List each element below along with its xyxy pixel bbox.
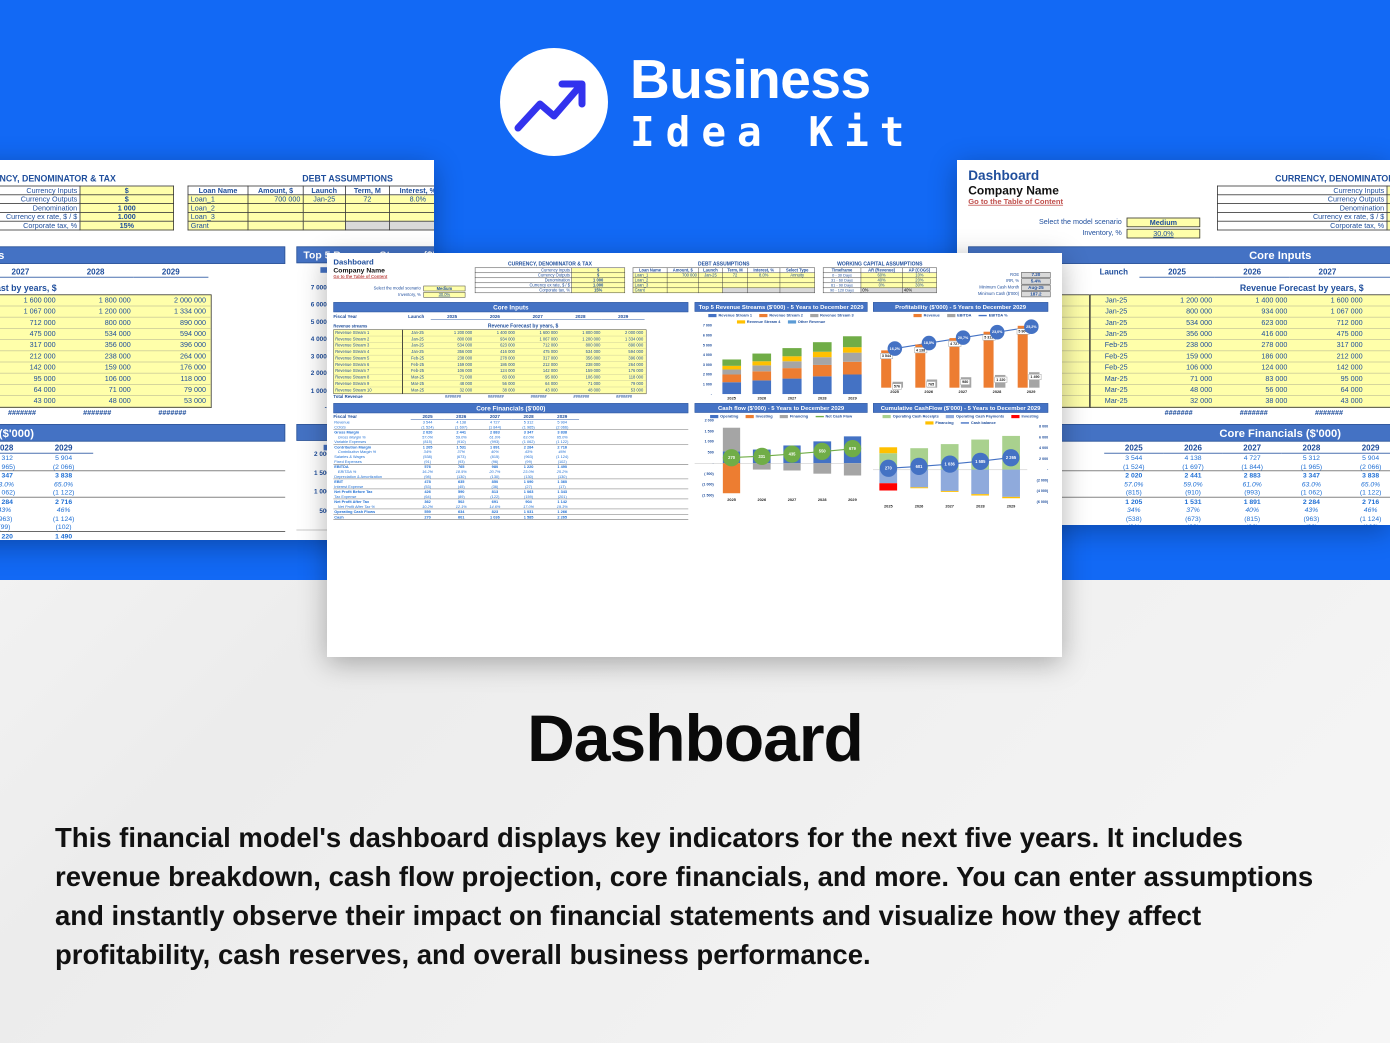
debt-cell[interactable] <box>248 204 303 213</box>
revenue-forecast-grid: Jan-251 200 0001 400 0001 600 0001 800 0… <box>1090 294 1390 408</box>
inventory-input[interactable]: 30.0% <box>1127 229 1201 239</box>
debt-cell[interactable]: Jan-25 <box>303 195 345 204</box>
scenario-select[interactable]: Medium <box>1127 218 1201 228</box>
forecast-cell[interactable]: 1 800 000 <box>60 295 135 305</box>
forecast-cell[interactable]: 356 000 <box>1367 340 1390 350</box>
forecast-cell[interactable]: 1 600 000 <box>0 295 60 305</box>
debt-cell[interactable]: 72 <box>345 195 389 204</box>
forecast-cell[interactable]: 800 000 <box>60 318 135 328</box>
debt-cell[interactable] <box>345 204 389 213</box>
currency-row-label: Currency ex rate, $ / $ <box>1217 212 1387 221</box>
financial-row-value: 65.0% <box>34 480 93 488</box>
currency-row-value[interactable]: 15% <box>572 288 625 293</box>
currency-row-value[interactable]: $ <box>80 186 174 195</box>
wc-cell[interactable]: 0% <box>861 288 902 293</box>
financial-row-label: Depreciation & Amortization <box>333 474 410 479</box>
launch-cell[interactable]: Mar-25 <box>1091 374 1142 384</box>
launch-cell[interactable]: Jan-25 <box>403 349 432 355</box>
forecast-cell[interactable]: 159 000 <box>560 368 603 374</box>
bar-segment <box>843 347 862 353</box>
forecast-cell[interactable]: 2 000 000 <box>603 330 646 336</box>
y-axis-tick: 3 000 <box>296 353 326 360</box>
forecast-cell[interactable]: 186 000 <box>475 362 518 368</box>
forecast-cell[interactable]: 475 000 <box>0 329 60 339</box>
scenario-select[interactable]: Medium <box>423 286 465 291</box>
currency-block-header: CURRENCY, DENOMINATOR & TAX <box>475 261 625 266</box>
chart-plot-profitability: 3 54457616,2%4 13876518,5%4 72798020,7%5… <box>873 319 1048 387</box>
forecast-cell[interactable]: 623 000 <box>475 343 518 349</box>
financial-row-value: (130) <box>512 474 546 479</box>
financial-row-value: (201) <box>545 494 579 499</box>
core-financials-year: 2028 <box>0 444 34 454</box>
forecast-cell[interactable]: 38 000 <box>475 387 518 393</box>
table-row: Salaries & Wages(538)(673)(815)(963)(1 1… <box>0 514 285 522</box>
launch-label: Launch <box>1088 268 1139 278</box>
forecast-cell[interactable]: 159 000 <box>60 362 135 372</box>
financial-row-value: 1 585 <box>512 514 546 519</box>
forecast-cell[interactable]: 43 000 <box>0 396 60 406</box>
debt-cell[interactable]: 700 000 <box>248 195 303 204</box>
debt-cell[interactable] <box>748 288 780 293</box>
forecast-cell[interactable]: 800 000 <box>1142 306 1217 316</box>
forecast-cell[interactable]: 1 334 000 <box>603 336 646 342</box>
forecast-cell[interactable]: 186 000 <box>1217 351 1292 361</box>
table-of-content-link[interactable]: Go to the Table of Content <box>968 198 1200 207</box>
debt-cell[interactable] <box>345 221 389 230</box>
kpi-label: IRR, % <box>1006 278 1019 284</box>
forecast-cell[interactable]: 56 000 <box>1217 385 1292 395</box>
forecast-cell[interactable]: 1 200 000 <box>1142 295 1217 305</box>
forecast-cell[interactable]: 159 000 <box>432 362 475 368</box>
debt-cell[interactable]: Grant <box>188 221 248 230</box>
debt-cell[interactable] <box>303 221 345 230</box>
x-axis-label: 2025 <box>873 504 904 509</box>
forecast-cell[interactable]: 71 000 <box>1367 385 1390 395</box>
ebitda-pct-bubble: 20,7% <box>956 330 971 345</box>
bar-segment <box>783 348 802 357</box>
debt-cell[interactable] <box>389 212 434 221</box>
financial-row-value: (64) <box>411 494 445 499</box>
table-row: Currency Outputs$ <box>1217 195 1390 204</box>
legend-swatch <box>759 314 767 317</box>
forecast-cell[interactable]: 238 000 <box>1142 340 1217 350</box>
forecast-cell[interactable]: 43 000 <box>518 387 561 393</box>
launch-cell[interactable]: Mar-25 <box>403 381 432 387</box>
forecast-cell[interactable]: 79 000 <box>603 381 646 387</box>
debt-column-header: Launch <box>303 186 345 195</box>
forecast-cell[interactable]: 32 000 <box>432 387 475 393</box>
debt-cell[interactable] <box>303 204 345 213</box>
forecast-cell[interactable]: 64 000 <box>518 381 561 387</box>
forecast-cell[interactable]: 124 000 <box>475 368 518 374</box>
forecast-cell[interactable]: 2 000 000 <box>136 295 211 305</box>
forecast-cell[interactable]: 396 000 <box>136 340 211 350</box>
core-financials-year: 2027 <box>1223 444 1282 454</box>
forecast-cell[interactable]: 48 000 <box>60 396 135 406</box>
debt-table: Loan NameAmount, $LaunchTerm, MInterest,… <box>188 186 434 231</box>
growth-arrow-icon <box>500 48 608 156</box>
bar-segment <box>813 365 832 377</box>
forecast-cell[interactable]: 264 000 <box>136 351 211 361</box>
forecast-cell[interactable]: 71 000 <box>1142 374 1217 384</box>
forecast-cell[interactable]: 1 067 000 <box>1292 306 1367 316</box>
forecast-cell[interactable]: 623 000 <box>1217 318 1292 328</box>
forecast-cell[interactable]: 118 000 <box>136 374 211 384</box>
forecast-cell[interactable]: 534 000 <box>432 343 475 349</box>
forecast-cell[interactable]: 890 000 <box>603 343 646 349</box>
legend-swatch <box>946 415 954 418</box>
debt-cell[interactable] <box>698 288 722 293</box>
wc-cell[interactable]: 40% <box>902 288 936 293</box>
forecast-cell[interactable]: 64 000 <box>1292 385 1367 395</box>
y-axis-tick: 4 000 <box>1029 446 1048 450</box>
forecast-cell[interactable]: 1 067 000 <box>518 336 561 342</box>
ebitda-data-label: 980 <box>960 379 970 385</box>
forecast-cell[interactable]: 212 000 <box>518 362 561 368</box>
forecast-cell[interactable]: 1 067 000 <box>0 306 60 316</box>
financial-row-value: 270 <box>411 514 445 519</box>
cash-bubble: 331 <box>753 448 770 465</box>
bar-segment <box>843 336 862 347</box>
launch-cell[interactable]: Feb-25 <box>403 362 432 368</box>
forecast-cell[interactable]: 48 000 <box>560 387 603 393</box>
forecast-cell[interactable]: 212 000 <box>0 351 60 361</box>
total-revenue-value: ####### <box>135 409 210 418</box>
y-axis-tick: 1 000 <box>296 387 326 394</box>
table-row: Corporate tax, %15% <box>1217 221 1390 230</box>
ebitda-data-label: 1 490 <box>1029 374 1042 380</box>
wc-block-header: WORKING CAPITAL ASSUMPTIONS <box>823 261 937 266</box>
bar-segment <box>722 359 741 365</box>
financial-row-value: 40% <box>1223 506 1282 514</box>
legend-swatch <box>914 314 922 317</box>
total-revenue-value: ####### <box>0 409 60 418</box>
forecast-cell[interactable]: 124 000 <box>1217 362 1292 372</box>
total-revenue-value: ####### <box>1141 409 1216 418</box>
forecast-cell[interactable]: 38 000 <box>1217 396 1292 406</box>
cash-bubble: 1 036 <box>941 456 958 473</box>
forecast-cell[interactable]: 264 000 <box>603 362 646 368</box>
debt-cell[interactable] <box>389 221 434 230</box>
forecast-cell[interactable]: 594 000 <box>603 349 646 355</box>
launch-cell[interactable]: Mar-25 <box>403 387 432 393</box>
legend-item: Financing <box>780 414 808 419</box>
forecast-cell[interactable]: 1 800 000 <box>1367 295 1390 305</box>
y-axis-tick: (6 000) <box>1029 500 1048 504</box>
core-inputs-year: 2029 <box>602 314 645 319</box>
forecast-cell[interactable]: 278 000 <box>1217 340 1292 350</box>
financial-row-value: (993) <box>1223 488 1282 496</box>
forecast-cell[interactable]: 159 000 <box>1142 351 1217 361</box>
forecast-cell[interactable]: 106 000 <box>1142 362 1217 372</box>
kpi-value: 187.2 <box>1021 291 1050 297</box>
debt-cell[interactable] <box>248 221 303 230</box>
x-axis-label: 2029 <box>1014 390 1048 395</box>
dashboard-screenshot-center[interactable]: DashboardCompany NameGo to the Table of … <box>327 253 1062 657</box>
table-row: Corporate tax, %15% <box>475 288 625 293</box>
launch-cell[interactable]: Jan-25 <box>403 336 432 342</box>
financial-row-value: 2 284 <box>0 497 34 505</box>
legend-swatch <box>780 415 788 418</box>
bar-segment <box>752 354 771 361</box>
launch-cell[interactable]: Jan-25 <box>403 330 432 336</box>
forecast-cell[interactable]: 56 000 <box>475 381 518 387</box>
table-row: Feb-25159 000186 000212 000238 000264 00… <box>0 351 211 362</box>
forecast-cell[interactable]: 416 000 <box>1217 329 1292 339</box>
forecast-cell[interactable]: 176 000 <box>603 368 646 374</box>
launch-cell[interactable]: Mar-25 <box>1091 396 1142 406</box>
forecast-cell[interactable]: 95 000 <box>0 374 60 384</box>
bar-segment <box>843 375 862 394</box>
forecast-cell[interactable]: 176 000 <box>136 362 211 372</box>
forecast-cell[interactable]: 48 000 <box>1367 396 1390 406</box>
forecast-cell[interactable]: 48 000 <box>432 381 475 387</box>
forecast-cell[interactable]: 159 000 <box>1367 362 1390 372</box>
core-inputs-header: Core Inputs <box>0 246 285 264</box>
financial-row-value: (1 122) <box>1341 488 1390 496</box>
debt-cell[interactable] <box>780 288 815 293</box>
forecast-cell[interactable]: 53 000 <box>136 396 211 406</box>
launch-cell[interactable]: Feb-25 <box>403 368 432 374</box>
forecast-cell[interactable]: 53 000 <box>603 387 646 393</box>
table-row: Feb-25159 000186 000212 000238 000264 00… <box>1091 351 1390 362</box>
currency-row-label: Denomination <box>1217 204 1387 213</box>
bar-segment <box>879 483 897 491</box>
bar-segment <box>813 342 832 352</box>
debt-cell[interactable] <box>345 212 389 221</box>
bar-segment <box>722 382 741 394</box>
core-inputs-year: 2026 <box>1215 268 1290 278</box>
table-row: Mar-2532 00038 00043 00048 00053 000 <box>0 396 211 407</box>
forecast-cell[interactable]: 95 000 <box>518 374 561 380</box>
launch-cell[interactable]: Jan-25 <box>1091 318 1142 328</box>
inventory-input[interactable]: 30.0% <box>423 292 465 297</box>
cash-bubble: 601 <box>910 458 927 475</box>
financial-row-value: (1 524) <box>1104 462 1163 470</box>
forecast-cell[interactable]: 238 000 <box>432 355 475 361</box>
launch-cell[interactable]: Jan-25 <box>403 343 432 349</box>
table-row: Contribution Margin1 2051 5311 8912 2842… <box>0 496 285 505</box>
forecast-cell[interactable]: 142 000 <box>518 368 561 374</box>
launch-cell[interactable]: Mar-25 <box>1091 385 1142 395</box>
forecast-cell[interactable]: 278 000 <box>475 355 518 361</box>
financial-row-value: 63.0% <box>1282 480 1341 488</box>
financial-row-value: 5 904 <box>1341 454 1390 462</box>
launch-cell[interactable]: Feb-25 <box>1091 362 1142 372</box>
debt-cell[interactable]: Grant <box>633 288 667 293</box>
forecast-cell[interactable]: 142 000 <box>0 362 60 372</box>
financial-row-value: 1 490 <box>34 532 93 540</box>
forecast-cell[interactable]: 106 000 <box>560 374 603 380</box>
total-revenue-label: Total Revenue <box>333 395 401 400</box>
legend-swatch <box>737 320 745 323</box>
legend-label: Net Cash Flow <box>825 414 852 419</box>
bar-segment <box>783 368 802 378</box>
forecast-cell[interactable]: 800 000 <box>432 336 475 342</box>
debt-cell[interactable] <box>389 204 434 213</box>
financial-row-value: 1 531 <box>1163 497 1222 505</box>
financial-row-value: (1 965) <box>1282 462 1341 470</box>
chart-legend: OperatingInvestingFinancingNet Cash Flow <box>695 414 868 419</box>
cash-bubble: 435 <box>783 445 800 462</box>
bar-segment <box>844 463 862 475</box>
forecast-cell[interactable]: 317 000 <box>1292 340 1367 350</box>
currency-row-value[interactable]: 1 000 <box>80 204 174 213</box>
forecast-cell[interactable]: 71 000 <box>60 385 135 395</box>
debt-cell[interactable]: Loan_1 <box>188 195 248 204</box>
forecast-cell[interactable]: 800 000 <box>1367 318 1390 328</box>
forecast-cell[interactable]: 71 000 <box>432 374 475 380</box>
forecast-cell[interactable]: 534 000 <box>1367 329 1390 339</box>
launch-cell[interactable]: Feb-25 <box>403 355 432 361</box>
debt-cell[interactable] <box>248 212 303 221</box>
financial-row-value: (815) <box>1104 488 1163 496</box>
forecast-cell[interactable]: 48 000 <box>1142 385 1217 395</box>
forecast-cell[interactable]: 118 000 <box>603 374 646 380</box>
kpi-value: Aug-25 <box>1021 285 1050 291</box>
forecast-cell[interactable]: 142 000 <box>1292 362 1367 372</box>
y-axis-tick: 8 000 <box>1029 425 1048 429</box>
debt-cell[interactable]: Loan_2 <box>188 204 248 213</box>
forecast-cell[interactable]: 800 000 <box>560 343 603 349</box>
forecast-cell[interactable]: 934 000 <box>475 336 518 342</box>
legend-label: Investing <box>1021 414 1038 419</box>
forecast-cell[interactable]: 475 000 <box>1292 329 1367 339</box>
forecast-cell[interactable]: 1 400 000 <box>475 330 518 336</box>
forecast-cell[interactable]: 1 400 000 <box>1217 295 1292 305</box>
y-axis-tick: (2 000) <box>1029 478 1048 482</box>
currency-row-value[interactable]: 1.000 <box>80 212 174 221</box>
debt-cell[interactable]: Loan_3 <box>188 212 248 221</box>
forecast-cell[interactable]: 32 000 <box>1142 396 1217 406</box>
forecast-cell[interactable]: 1 200 000 <box>560 336 603 342</box>
currency-row-value[interactable]: 15% <box>80 221 174 230</box>
forecast-cell[interactable]: 1 600 000 <box>1292 295 1367 305</box>
forecast-cell[interactable]: 106 000 <box>1367 374 1390 384</box>
forecast-cell[interactable]: 712 000 <box>1292 318 1367 328</box>
debt-cell[interactable] <box>667 288 698 293</box>
financial-row-value: (130) <box>478 474 512 479</box>
core-inputs-year: 2025 <box>1139 268 1214 278</box>
bar-segment <box>1002 470 1020 497</box>
financial-row-value: 559 <box>411 509 445 514</box>
forecast-cell[interactable]: 1 600 000 <box>518 330 561 336</box>
forecast-cell[interactable]: 1 200 000 <box>432 330 475 336</box>
dashboard-sheet: DashboardCompany NameGo to the Table of … <box>327 253 1055 657</box>
financial-row-value: (2 066) <box>34 462 93 470</box>
forecast-cell[interactable]: 396 000 <box>603 355 646 361</box>
table-of-content-link[interactable]: Go to the Table of Content <box>333 274 465 279</box>
forecast-cell[interactable]: 83 000 <box>475 374 518 380</box>
forecast-cell[interactable]: 106 000 <box>60 374 135 384</box>
forecast-cell[interactable]: 416 000 <box>475 349 518 355</box>
forecast-cell[interactable]: 106 000 <box>432 368 475 374</box>
forecast-cell[interactable]: 64 000 <box>0 385 60 395</box>
legend-label: Revenue Stream 2 <box>769 313 803 318</box>
forecast-cell[interactable]: 356 000 <box>1142 329 1217 339</box>
core-financials-header: Core Financials ($'000) <box>0 424 285 442</box>
forecast-cell[interactable]: 1 200 000 <box>60 306 135 316</box>
table-row: Mar-2571 00083 00095 000106 000118 000 <box>1091 374 1390 385</box>
forecast-cell[interactable]: 212 000 <box>1292 351 1367 361</box>
y-axis-tick: 2 000 <box>296 450 330 457</box>
bar-segment <box>723 463 741 493</box>
debt-cell[interactable]: 8.0% <box>389 195 434 204</box>
financial-row-value: 2 265 <box>545 514 579 519</box>
forecast-cell[interactable]: 1 334 000 <box>136 306 211 316</box>
forecast-cell[interactable]: 356 000 <box>432 349 475 355</box>
forecast-cell[interactable]: 238 000 <box>60 351 135 361</box>
forecast-cell[interactable]: 534 000 <box>60 329 135 339</box>
forecast-cell[interactable]: 534 000 <box>560 349 603 355</box>
forecast-cell[interactable]: 890 000 <box>136 318 211 328</box>
forecast-cell[interactable]: 238 000 <box>560 362 603 368</box>
forecast-cell[interactable]: 712 000 <box>0 318 60 328</box>
financial-row-value: 2 883 <box>1223 471 1282 479</box>
total-revenue-value: ####### <box>1367 409 1390 418</box>
forecast-cell[interactable]: 43 000 <box>1292 396 1367 406</box>
revenue-stream-name[interactable]: Revenue Stream 10 <box>334 387 402 393</box>
forecast-cell[interactable]: 594 000 <box>136 329 211 339</box>
currency-block-header: CURRENCY, DENOMINATOR & TAX <box>0 174 174 184</box>
currency-row-label: Currency Inputs <box>1217 186 1387 195</box>
ebitda-data-label: 576 <box>892 383 902 389</box>
financial-row-value: 14.6% <box>478 504 512 509</box>
sheet-title: Dashboard <box>333 258 465 267</box>
launch-cell[interactable]: Feb-25 <box>1091 351 1142 361</box>
forecast-cell[interactable]: 712 000 <box>518 343 561 349</box>
launch-cell[interactable]: Jan-25 <box>1091 329 1142 339</box>
financial-row-value: (130) <box>545 474 579 479</box>
currency-block-header: CURRENCY, DENOMINATOR & TAX <box>1217 174 1390 184</box>
debt-cell[interactable] <box>303 212 345 221</box>
launch-cell[interactable]: Feb-25 <box>1091 340 1142 350</box>
forecast-cell[interactable]: 1 200 000 <box>1367 306 1390 316</box>
forecast-cell[interactable]: 356 000 <box>60 340 135 350</box>
financial-row-value: (538) <box>1104 514 1163 522</box>
forecast-cell[interactable]: 475 000 <box>518 349 561 355</box>
forecast-cell[interactable]: 83 000 <box>1217 374 1292 384</box>
forecast-cell[interactable]: 71 000 <box>560 381 603 387</box>
currency-row-label: Denomination <box>0 204 80 213</box>
forecast-cell[interactable]: 1 800 000 <box>560 330 603 336</box>
currency-row-value[interactable]: $ <box>80 195 174 204</box>
debt-cell[interactable] <box>722 288 747 293</box>
forecast-cell[interactable]: 934 000 <box>1217 306 1292 316</box>
launch-cell[interactable]: Jan-25 <box>1091 295 1142 305</box>
table-row: Mar-2532 00038 00043 00048 00053 000 <box>403 387 646 393</box>
legend-label: Operating Cash Payments <box>956 414 1004 419</box>
y-axis-tick: 2 000 <box>695 372 712 376</box>
forecast-cell[interactable]: 238 000 <box>1367 351 1390 361</box>
forecast-cell[interactable]: 317 000 <box>518 355 561 361</box>
bar-segment <box>843 353 862 362</box>
forecast-cell[interactable]: 356 000 <box>560 355 603 361</box>
launch-cell[interactable]: Jan-25 <box>1091 306 1142 316</box>
revenue-stream-names: Revenue Stream 1Revenue Stream 2Revenue … <box>333 329 402 394</box>
y-axis-tick: 500 <box>296 507 330 514</box>
financial-row-label: Operating Cash Flows <box>333 509 410 514</box>
legend-swatch <box>746 415 754 418</box>
x-axis-label: 2026 <box>904 504 935 509</box>
forecast-cell[interactable]: 95 000 <box>1292 374 1367 384</box>
forecast-cell[interactable]: 317 000 <box>0 340 60 350</box>
forecast-cell[interactable]: 79 000 <box>136 385 211 395</box>
x-axis-label: 2028 <box>980 390 1014 395</box>
bar-segment <box>752 380 771 394</box>
forecast-cell[interactable]: 534 000 <box>1142 318 1217 328</box>
launch-cell[interactable]: Mar-25 <box>403 374 432 380</box>
